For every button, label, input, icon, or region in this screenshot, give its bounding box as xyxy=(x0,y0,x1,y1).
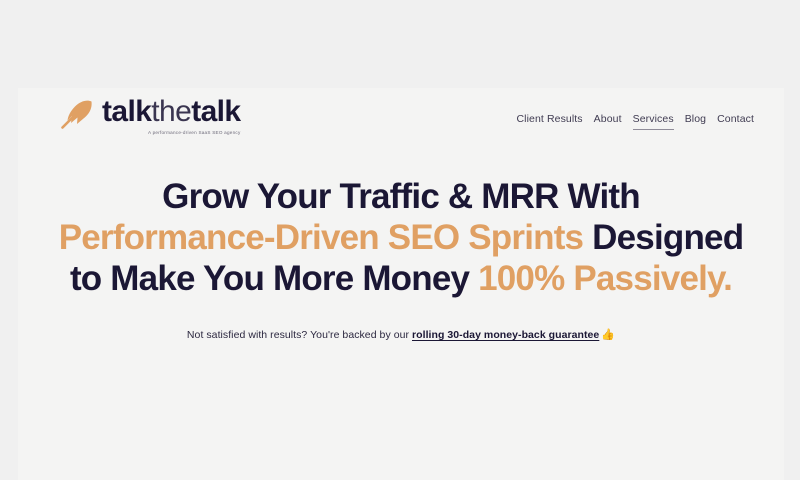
hero-subtitle-lead: Not satisfied with results? You're backe… xyxy=(187,329,412,341)
wordmark-part-2: the xyxy=(151,95,191,128)
headline-segment: Designed xyxy=(583,218,743,257)
page-content-card: talkthetalk A performance-driven SaaS SE… xyxy=(18,88,784,480)
wordmark-part-3: talk xyxy=(191,95,240,128)
feather-quill-icon xyxy=(58,96,98,134)
page-title: Grow Your Traffic & MRR With Performance… xyxy=(18,176,784,299)
brand-wordmark: talkthetalk xyxy=(102,96,241,128)
brand-text-block: talkthetalk A performance-driven SaaS SE… xyxy=(102,96,241,136)
headline-line-1: Grow Your Traffic & MRR With xyxy=(18,176,784,217)
nav-item-contact[interactable]: Contact xyxy=(717,112,754,130)
wordmark-part-1: talk xyxy=(102,95,151,128)
headline-segment-accent: 100% Passively. xyxy=(478,259,732,298)
brand-tagline: A performance-driven SaaS SEO agency xyxy=(148,129,241,136)
brand-logo[interactable]: talkthetalk A performance-driven SaaS SE… xyxy=(58,96,241,136)
headline-line-2: Performance-Driven SEO Sprints Designed xyxy=(18,217,784,258)
thumbs-up-icon: 👍 xyxy=(599,329,615,341)
headline-segment: Grow Your Traffic & MRR With xyxy=(162,177,640,216)
headline-segment-accent: Performance-Driven SEO Sprints xyxy=(59,218,584,257)
site-header: talkthetalk A performance-driven SaaS SE… xyxy=(18,88,784,158)
browser-viewport: talkthetalk A performance-driven SaaS SE… xyxy=(0,0,800,480)
nav-item-blog[interactable]: Blog xyxy=(685,112,706,130)
hero-section: Grow Your Traffic & MRR With Performance… xyxy=(18,176,784,343)
primary-navigation: Client Results About Services Blog Conta… xyxy=(516,112,754,130)
money-back-guarantee-link[interactable]: rolling 30-day money-back guarantee xyxy=(412,329,599,341)
nav-item-client-results[interactable]: Client Results xyxy=(516,112,582,130)
headline-segment: to Make You More Money xyxy=(70,259,478,298)
nav-item-services[interactable]: Services xyxy=(633,112,674,130)
nav-item-about[interactable]: About xyxy=(594,112,622,130)
hero-subtitle: Not satisfied with results? You're backe… xyxy=(18,299,784,343)
headline-line-3: to Make You More Money 100% Passively. xyxy=(18,258,784,299)
